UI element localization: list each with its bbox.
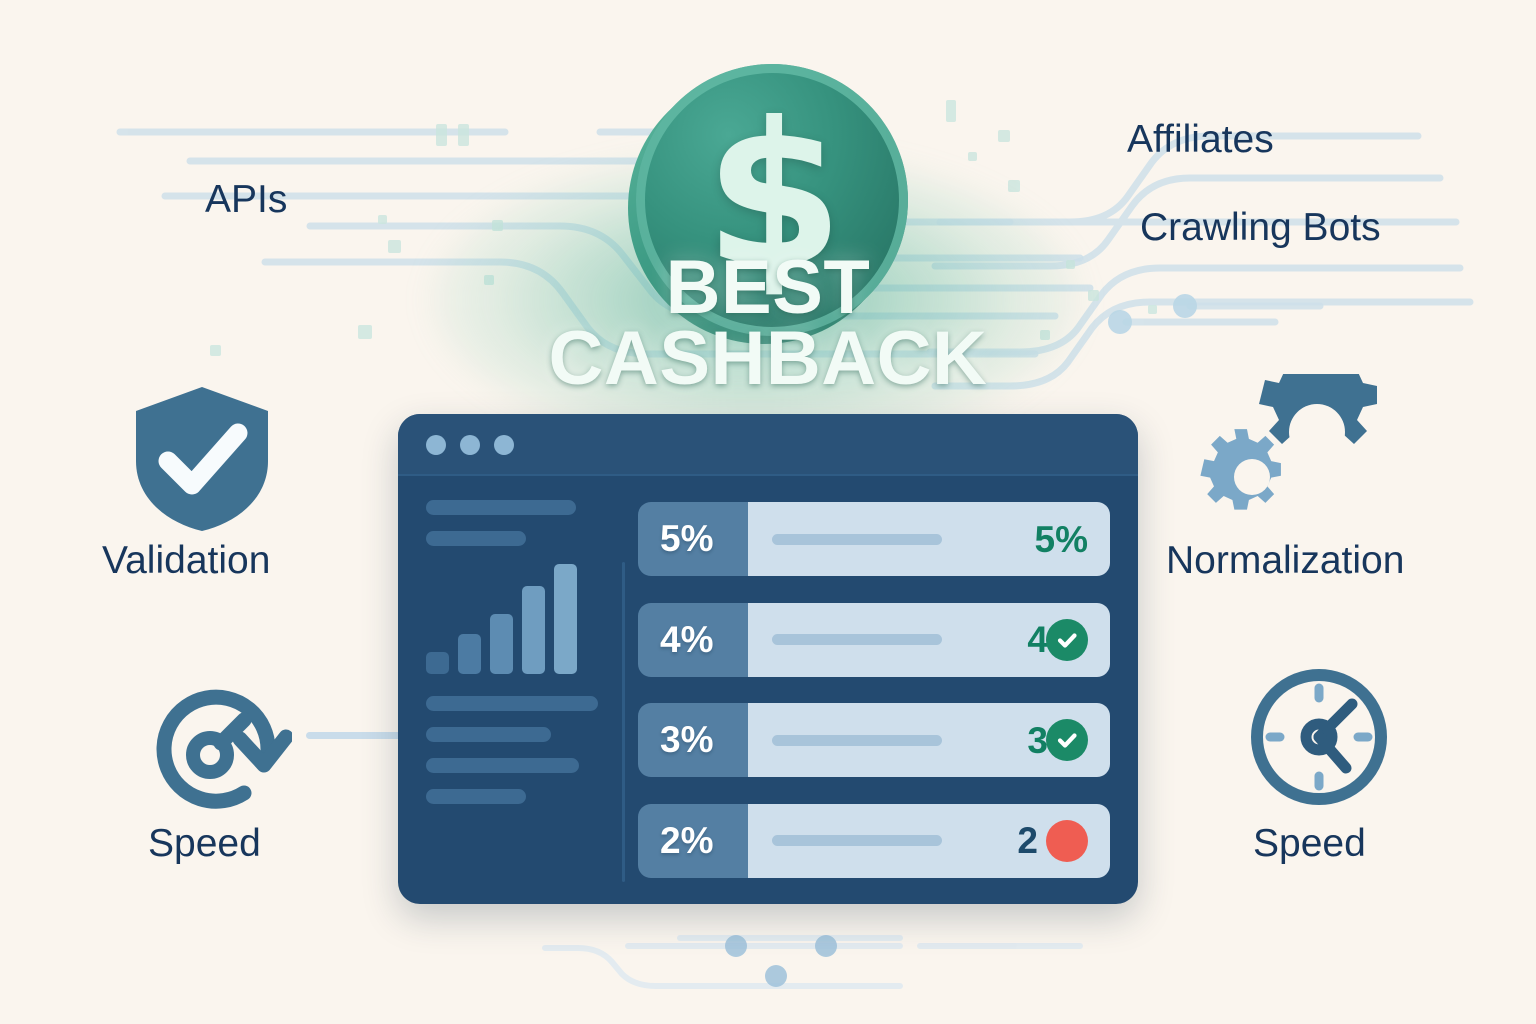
window-maximize-dot[interactable]: [494, 435, 514, 455]
window-body: 5% 5% 4% 4: [398, 476, 1138, 904]
panel-divider: [622, 562, 625, 882]
label-speed-left: Speed: [148, 822, 261, 866]
row-status-group: 3: [1027, 719, 1088, 761]
window-minimize-dot[interactable]: [460, 435, 480, 455]
row-percent-cell: 3%: [638, 703, 748, 777]
label-affiliates: Affiliates: [1127, 118, 1274, 162]
label-normalization: Normalization: [1166, 539, 1404, 583]
skeleton-bar: [426, 696, 598, 711]
row-percent-label: 2%: [660, 820, 713, 862]
sidebar-bar-chart: [426, 564, 604, 674]
skeleton-bar: [426, 727, 551, 742]
row-placeholder-line: [772, 534, 942, 545]
label-apis: APIs: [205, 178, 287, 222]
shield-check-icon: [128, 383, 276, 535]
row-percent-cell: 5%: [638, 502, 748, 576]
row-percent-cell: 4%: [638, 603, 748, 677]
row-detail-cell: 5%: [748, 502, 1110, 576]
row-percent-label: 4%: [660, 619, 713, 661]
table-row[interactable]: 2% 2: [638, 804, 1110, 878]
connector-line-speed: [306, 732, 402, 739]
row-percent-cell: 2%: [638, 804, 748, 878]
infographic-canvas: $ BEST CASHBACK APIs Affiliates Crawling…: [0, 0, 1536, 1024]
label-speed-right: Speed: [1253, 822, 1366, 866]
row-percent-label: 3%: [660, 719, 713, 761]
window-close-dot[interactable]: [426, 435, 446, 455]
refresh-speed-icon: [140, 673, 292, 825]
row-placeholder-line: [772, 634, 942, 645]
sidebar-panel: [398, 476, 620, 904]
title-line-best: BEST: [368, 252, 1168, 323]
row-placeholder-line: [772, 735, 942, 746]
row-placeholder-line: [772, 835, 942, 846]
dashboard-window: 5% 5% 4% 4: [398, 414, 1138, 904]
chart-bar: [554, 564, 577, 674]
row-status-group: 2: [1017, 820, 1088, 862]
page-title: BEST CASHBACK: [368, 252, 1168, 395]
check-circle-icon: [1046, 619, 1088, 661]
row-percent-label: 5%: [660, 518, 713, 560]
chart-bar: [490, 614, 513, 674]
alert-dot-icon: [1046, 820, 1088, 862]
table-row[interactable]: 4% 4: [638, 603, 1110, 677]
row-status-group: 4: [1027, 619, 1088, 661]
title-line-cashback: CASHBACK: [368, 323, 1168, 394]
table-row[interactable]: 3% 3: [638, 703, 1110, 777]
row-value-label: 5%: [1035, 521, 1088, 558]
clock-icon: [1246, 664, 1392, 810]
skeleton-bar: [426, 500, 576, 515]
table-row[interactable]: 5% 5%: [638, 502, 1110, 576]
skeleton-bar: [426, 531, 526, 546]
chart-bar: [426, 652, 449, 674]
window-titlebar: [398, 414, 1138, 476]
row-detail-cell: 2: [748, 804, 1110, 878]
skeleton-bar: [426, 789, 526, 804]
chart-bar: [522, 586, 545, 674]
row-detail-cell: 4: [748, 603, 1110, 677]
row-status-group: 5%: [1035, 521, 1088, 558]
skeleton-bar: [426, 758, 579, 773]
row-value-label: 2: [1017, 822, 1038, 859]
chart-bar: [458, 634, 481, 674]
cashback-rows-list: 5% 5% 4% 4: [620, 476, 1138, 904]
label-crawling-bots: Crawling Bots: [1140, 206, 1381, 250]
row-detail-cell: 3: [748, 703, 1110, 777]
label-validation: Validation: [102, 539, 270, 583]
window-controls[interactable]: [426, 435, 514, 455]
row-value-label: 3: [1027, 722, 1048, 759]
gears-icon: [1196, 374, 1392, 524]
row-value-label: 4: [1027, 621, 1048, 658]
check-circle-icon: [1046, 719, 1088, 761]
